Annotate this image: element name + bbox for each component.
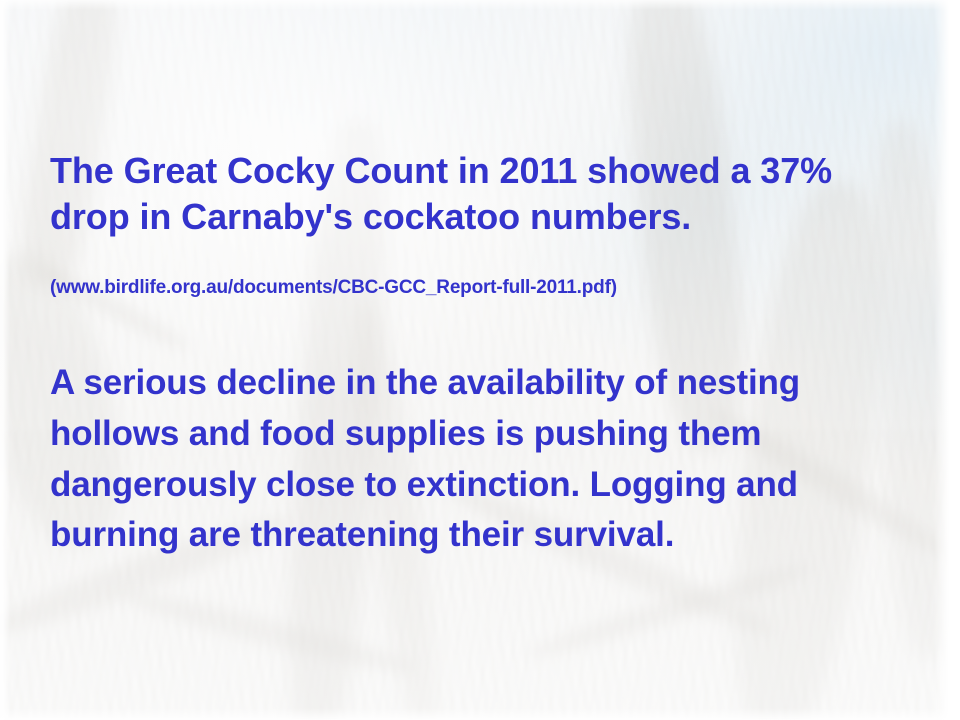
headline-text: The Great Cocky Count in 2011 showed a 3… bbox=[50, 148, 916, 240]
slide: The Great Cocky Count in 2011 showed a 3… bbox=[0, 0, 960, 720]
body-paragraph-text: A serious decline in the availability of… bbox=[50, 358, 890, 561]
slide-content: The Great Cocky Count in 2011 showed a 3… bbox=[0, 0, 960, 720]
source-url-text: (www.birdlife.org.au/documents/CBC-GCC_R… bbox=[50, 276, 916, 301]
